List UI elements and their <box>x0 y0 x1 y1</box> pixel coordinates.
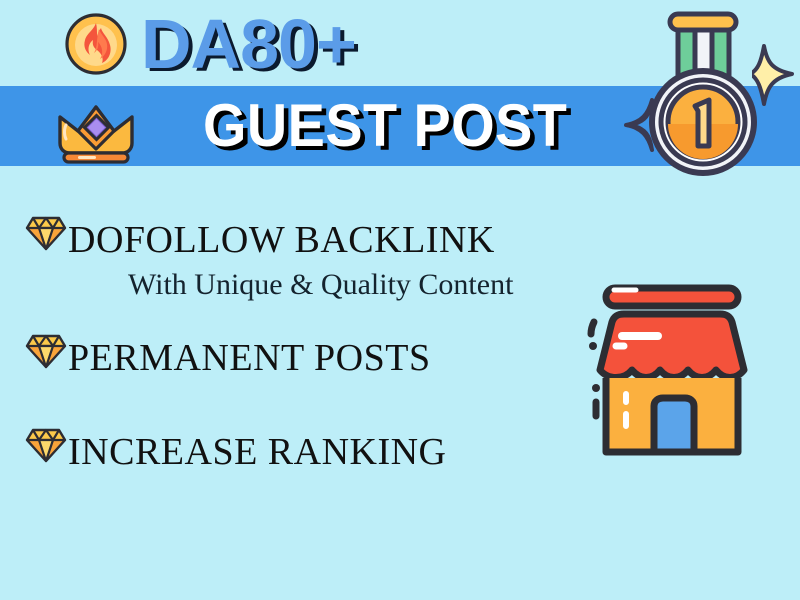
crown-icon <box>52 93 140 165</box>
flame-icon <box>63 11 129 77</box>
promo-banner-canvas: DA80+ GUEST POST <box>0 0 800 600</box>
list-item: INCREASE RANKING <box>24 424 447 474</box>
sparkle-icon <box>752 42 800 108</box>
medal-icon <box>638 4 768 182</box>
diamond-gem-icon <box>24 212 68 252</box>
feature-label: INCREASE RANKING <box>68 430 447 474</box>
diamond-gem-icon <box>24 424 68 464</box>
feature-label: DOFOLLOW BACKLINK <box>68 218 495 262</box>
feature-label: PERMANENT POSTS <box>68 336 431 380</box>
shop-storefront-icon <box>566 274 778 486</box>
page-title: DA80+ <box>141 6 356 82</box>
list-item: PERMANENT POSTS <box>24 330 431 380</box>
list-item: DOFOLLOW BACKLINK <box>24 212 495 262</box>
subtitle: With Unique & Quality Content <box>128 268 513 302</box>
sparkle-icon <box>622 96 662 154</box>
diamond-gem-icon <box>24 330 68 370</box>
banner-title: GUEST POST <box>203 92 567 160</box>
